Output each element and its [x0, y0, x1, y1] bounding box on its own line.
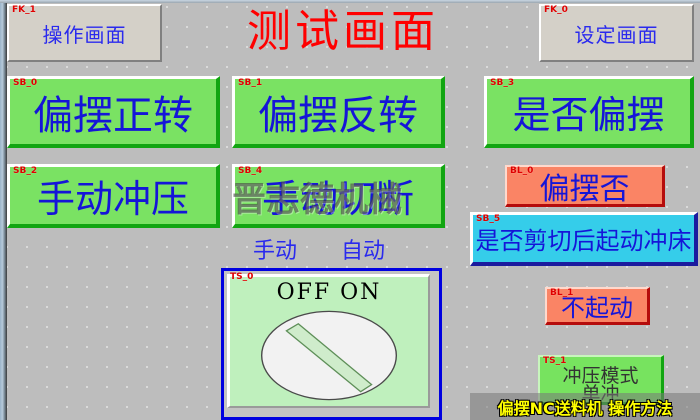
rotary-switch-face: OFF ON	[227, 274, 430, 408]
widget-tag-sb2: SB_2	[13, 166, 37, 176]
button-manual-punch[interactable]: SB_2 手动冲压	[7, 164, 220, 228]
widget-tag-ts1: TS_1	[543, 356, 566, 366]
rotary-switch-knob[interactable]	[230, 307, 428, 404]
widget-tag-sb5: SB_5	[476, 214, 500, 224]
widget-tag-fk0: FK_0	[544, 5, 568, 15]
widget-tag-bl1: BL_1	[550, 288, 573, 298]
button-swing-forward[interactable]: SB_0 偏摆正转	[7, 76, 220, 148]
switch-label-auto: 自动	[341, 241, 385, 263]
button-swing-forward-label: 偏摆正转	[33, 83, 193, 141]
widget-tag-bl0: BL_0	[510, 166, 533, 176]
rotary-switch-off-label: OFF	[277, 280, 332, 305]
nav-button-settings-screen[interactable]: FK_0 设定画面	[539, 4, 694, 62]
window-top-border	[0, 0, 700, 3]
lamp-start-status[interactable]: BL_1 不起动	[545, 287, 650, 325]
button-swing-reverse[interactable]: SB_1 偏摆反转	[232, 76, 445, 148]
button-start-punch-after-cut[interactable]: SB_5 是否剪切后起动冲床	[470, 212, 698, 266]
button-manual-cut-label: 手动切断	[262, 168, 414, 223]
rotary-switch-offon-text: OFF ON	[230, 281, 428, 305]
widget-tag-sb4: SB_4	[238, 166, 262, 176]
button-manual-cut[interactable]: SB_4 手动切断	[232, 164, 445, 228]
switch-label-manual: 手动	[253, 241, 297, 263]
window-left-border	[0, 0, 7, 420]
widget-tag-sb1: SB_1	[238, 78, 262, 88]
widget-tag-sb0: SB_0	[13, 78, 37, 88]
widget-tag-ts0: TS_0	[230, 272, 253, 282]
button-start-punch-after-cut-label: 是否剪切后起动冲床	[476, 221, 692, 256]
button-swing-reverse-label: 偏摆反转	[258, 83, 418, 141]
rotary-switch-manual-auto[interactable]: TS_0 OFF ON	[221, 268, 442, 420]
bottom-watermark-bar: 偏摆NC送料机 操作方法	[470, 393, 700, 420]
lamp-swing-status[interactable]: BL_0 偏摆否	[505, 165, 665, 207]
bottom-watermark-label: 偏摆NC送料机 操作方法	[498, 395, 673, 419]
lamp-swing-status-label: 偏摆否	[540, 164, 630, 208]
nav-button-operation-screen-label: 操作画面	[43, 19, 127, 48]
nav-button-operation-screen[interactable]: FK_1 操作画面	[7, 4, 162, 62]
button-manual-punch-label: 手动冲压	[37, 168, 189, 223]
nav-button-settings-screen-label: 设定画面	[575, 19, 659, 48]
button-swing-enable[interactable]: SB_3 是否偏摆	[484, 76, 694, 148]
button-swing-enable-label: 是否偏摆	[512, 84, 664, 139]
page-title: 测试画面	[208, 6, 478, 58]
widget-tag-fk1: FK_1	[12, 5, 36, 15]
hmi-screen: 测试画面 FK_1 操作画面 FK_0 设定画面 SB_0 偏摆正转 SB_1 …	[0, 0, 700, 420]
rotary-switch-on-label: ON	[340, 280, 381, 305]
widget-tag-sb3: SB_3	[490, 78, 514, 88]
